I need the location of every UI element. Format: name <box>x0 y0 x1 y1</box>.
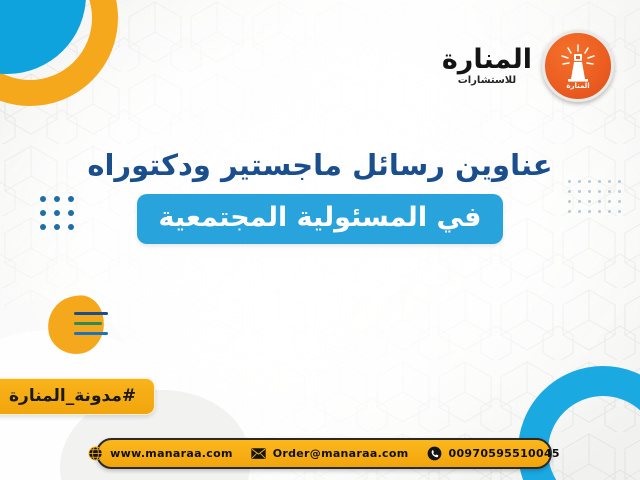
svg-text:المنارة: المنارة <box>566 82 589 90</box>
lighthouse-icon: المنارة <box>550 38 606 94</box>
headline-block: عناوين رسائل ماجستير ودكتوراه في المسئول… <box>0 148 640 244</box>
email-text: Order@manaraa.com <box>273 447 409 460</box>
globe-icon <box>88 446 103 461</box>
brand-wordmark: المنارة للاستشارات <box>442 46 532 86</box>
brand-tagline: للاستشارات <box>458 76 516 86</box>
page-title: عناوين رسائل ماجستير ودكتوراه <box>0 148 640 182</box>
lighthouse-badge: المنارة <box>542 30 614 102</box>
phone-icon <box>427 446 442 461</box>
contact-bar: www.manaraa.com Order@manaraa.com 009705… <box>96 438 552 469</box>
leaf-mark <box>48 296 138 358</box>
leaf-line-1 <box>74 312 108 315</box>
envelope-icon <box>251 446 266 461</box>
contact-item-email[interactable]: Order@manaraa.com <box>251 446 409 461</box>
leaf-line-3 <box>74 332 108 335</box>
brand-name: المنارة <box>442 46 532 73</box>
brand-logo[interactable]: المنارة للاستشارات المنارة <box>442 30 614 102</box>
phone-text: 00970595510045 <box>449 447 560 460</box>
hashtag-badge[interactable]: #مدونة_المنارة <box>0 378 155 415</box>
leaf-lines <box>74 312 134 342</box>
headline-highlight-chip: في المسئولية المجتمعية <box>137 194 504 244</box>
website-text: www.manaraa.com <box>110 447 233 460</box>
contact-item-website[interactable]: www.manaraa.com <box>88 446 233 461</box>
leaf-line-2 <box>74 322 102 325</box>
contact-item-phone[interactable]: 00970595510045 <box>427 446 560 461</box>
banner-canvas: المنارة للاستشارات المنارة <box>0 0 640 480</box>
